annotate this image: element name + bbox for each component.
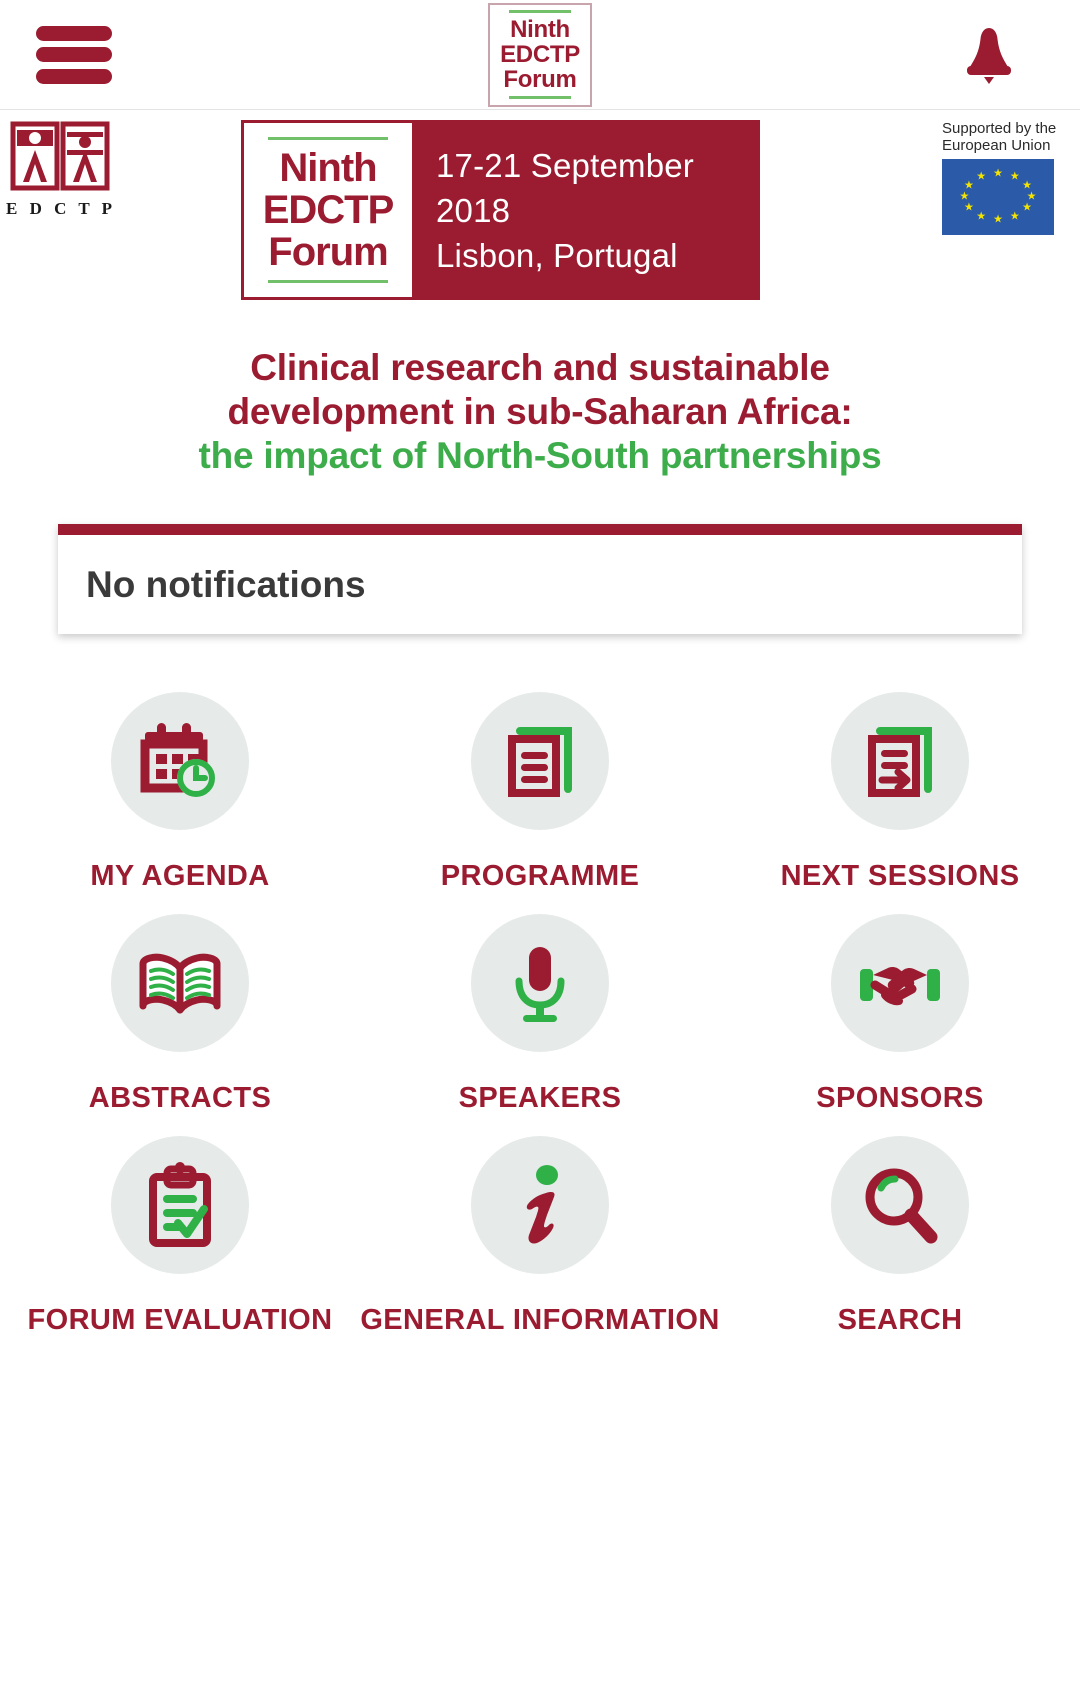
logo-rule-bottom <box>509 96 571 99</box>
eu-support-block: Supported by the European Union ★★★★★★★★… <box>942 120 1072 235</box>
menu-tile-label: FORUM EVALUATION <box>28 1300 333 1340</box>
edctp-wordmark: E D C T P <box>6 199 116 219</box>
eu-flag-star: ★ <box>993 169 1003 180</box>
menu-tile-my-agenda[interactable]: MY AGENDA <box>0 682 360 896</box>
banner-title-line-2: EDCTP <box>263 189 394 231</box>
microphone-icon <box>471 914 609 1052</box>
menu-tile-next-sessions[interactable]: NEXT SESSIONS <box>720 682 1080 896</box>
banner-rule-bottom <box>268 280 388 283</box>
event-tagline: Clinical research and sustainable develo… <box>0 340 1080 478</box>
tagline-line-1: Clinical research and sustainable <box>0 346 1080 390</box>
menu-tile-label: PROGRAMME <box>441 856 640 896</box>
banner-details-block: 17-21 September 2018 Lisbon, Portugal <box>412 123 757 297</box>
menu-tile-label: SPONSORS <box>816 1078 984 1118</box>
tagline-line-3: the impact of North-South partnerships <box>0 434 1080 478</box>
logo-line-2: EDCTP <box>500 42 580 67</box>
event-location: Lisbon, Portugal <box>436 233 757 278</box>
eu-flag-star: ★ <box>1027 192 1037 203</box>
eu-flag-star: ★ <box>1022 180 1032 191</box>
eu-flag-star: ★ <box>964 203 974 214</box>
eu-flag-star: ★ <box>1010 172 1020 183</box>
logo-line-3: Forum <box>503 67 576 92</box>
app-logo[interactable]: Ninth EDCTP Forum <box>488 3 592 107</box>
open-book-icon <box>111 914 249 1052</box>
menu-tile-forum-evaluation[interactable]: FORUM EVALUATION <box>0 1126 360 1340</box>
banner-rule-top <box>268 137 388 140</box>
eu-flag-star: ★ <box>964 180 974 191</box>
hamburger-bar <box>36 69 112 84</box>
menu-tile-label: ABSTRACTS <box>89 1078 271 1118</box>
notifications-card[interactable]: No notifications <box>58 524 1022 634</box>
menu-tile-label: GENERAL INFORMATION <box>360 1300 719 1340</box>
main-menu-grid: MY AGENDA PROGRAMME NEXT <box>0 682 1080 1340</box>
document-lines-icon <box>471 692 609 830</box>
banner-title-line-1: Ninth <box>263 147 394 189</box>
notifications-section: No notifications <box>0 478 1080 634</box>
menu-tile-label: NEXT SESSIONS <box>781 856 1020 896</box>
logo-text: Ninth EDCTP Forum <box>500 17 580 92</box>
edctp-organisation-logo: E D C T P <box>6 120 116 219</box>
information-italic-i-icon <box>471 1136 609 1274</box>
app-bar: Ninth EDCTP Forum <box>0 0 1080 110</box>
handshake-icon <box>831 914 969 1052</box>
eu-flag-star: ★ <box>976 172 986 183</box>
eu-flag-star: ★ <box>959 192 969 203</box>
eu-flag-star: ★ <box>976 211 986 222</box>
hamburger-bar <box>36 26 112 41</box>
banner-title-line-3: Forum <box>263 231 394 273</box>
bell-icon[interactable] <box>954 20 1024 90</box>
document-arrow-icon <box>831 692 969 830</box>
calendar-clock-icon <box>111 692 249 830</box>
eu-flag-star: ★ <box>1022 203 1032 214</box>
menu-tile-search[interactable]: SEARCH <box>720 1126 1080 1340</box>
event-dates: 17-21 September 2018 <box>436 143 757 233</box>
notifications-empty-message: No notifications <box>86 564 366 606</box>
menu-tile-general-information[interactable]: GENERAL INFORMATION <box>360 1126 720 1340</box>
tagline-line-2: development in sub-Saharan Africa: <box>0 390 1080 434</box>
eu-flag-star: ★ <box>993 214 1003 225</box>
logo-rule-top <box>509 10 571 13</box>
menu-tile-programme[interactable]: PROGRAMME <box>360 682 720 896</box>
menu-tile-sponsors[interactable]: SPONSORS <box>720 904 1080 1118</box>
menu-tile-label: SEARCH <box>838 1300 963 1340</box>
menu-tile-label: SPEAKERS <box>459 1078 622 1118</box>
logo-line-1: Ninth <box>510 17 570 42</box>
edctp-emblem-icon <box>9 120 113 192</box>
menu-tile-speakers[interactable]: SPEAKERS <box>360 904 720 1118</box>
menu-tile-label: MY AGENDA <box>90 856 269 896</box>
eu-caption-line-1: Supported by the <box>942 120 1072 137</box>
event-header: E D C T P Ninth EDCTP Forum 17-21 Septem… <box>0 110 1080 340</box>
eu-caption-line-2: European Union <box>942 137 1072 154</box>
hamburger-menu-icon[interactable] <box>36 26 112 84</box>
magnifier-icon <box>831 1136 969 1274</box>
hamburger-bar <box>36 47 112 62</box>
menu-tile-abstracts[interactable]: ABSTRACTS <box>0 904 360 1118</box>
clipboard-check-icon <box>111 1136 249 1274</box>
european-union-flag: ★★★★★★★★★★★★ <box>942 159 1054 235</box>
eu-flag-star: ★ <box>1010 211 1020 222</box>
event-banner: Ninth EDCTP Forum 17-21 September 2018 L… <box>241 120 760 300</box>
banner-title-block: Ninth EDCTP Forum <box>244 123 412 297</box>
